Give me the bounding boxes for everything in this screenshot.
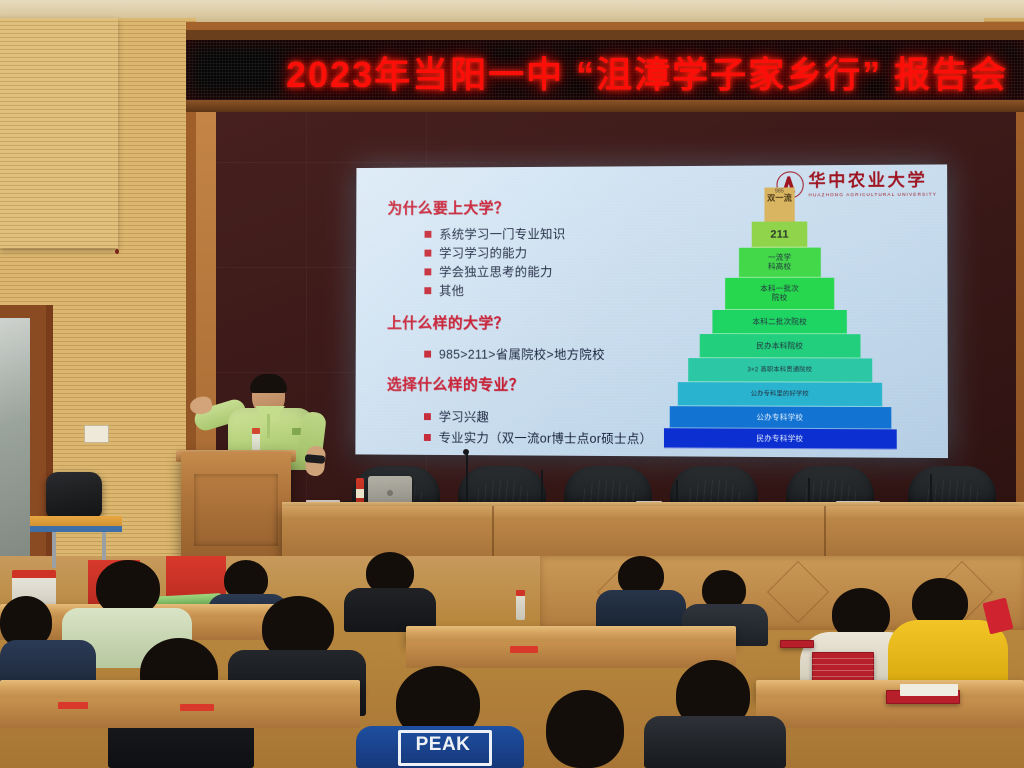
pyramid-level-4: 本科一批次 院校 (725, 278, 834, 310)
backpack (46, 472, 102, 518)
bullet-icon (424, 351, 431, 358)
slide-bullet-1-1: 系统学习一门专业知识 (425, 223, 566, 242)
bench-red-tag (510, 646, 538, 653)
wall-marker (115, 249, 119, 254)
bench-water-bottle (516, 594, 525, 620)
bench-red-tag (180, 704, 214, 711)
head-table-seam (824, 506, 826, 556)
bullet-icon (424, 413, 431, 420)
slide-bullet-1-4: 其他 (424, 280, 464, 299)
table-water-bottle-label (356, 489, 364, 498)
pyramid-level-5: 本科二批次院校 (712, 310, 847, 334)
slide-heading-2: 上什么样的大学？ (387, 312, 509, 333)
lecture-hall-photo: 2023年当阳一中 “沮漳学子家乡行” 报告会 华中农业大学 HUAZHONG … (0, 0, 1024, 768)
left-wall-upper-section (0, 18, 118, 248)
audience-torso (644, 716, 786, 768)
banner-rail-bottom (186, 100, 1024, 112)
speaker-glasses (255, 390, 282, 397)
pyramid-level-1: 985双一流 (764, 187, 794, 223)
shirt-brand-text: PEAK (404, 734, 482, 756)
speaker-wristwatch (305, 454, 326, 464)
bench-front (406, 642, 736, 668)
banner-rail-top (186, 30, 1024, 40)
slide-bullet-1-2: 学习学习的能力 (424, 242, 527, 261)
pyramid-level-2: 211 (752, 221, 808, 247)
speaker-shirt-placket (267, 414, 270, 438)
wall-switch-plate[interactable] (84, 425, 109, 443)
head-table (282, 506, 1024, 556)
notebook (900, 684, 958, 696)
microphone-head (463, 449, 469, 455)
audience-head (546, 690, 624, 768)
bullet-icon (425, 231, 432, 238)
pyramid-level-10: 民办专科学校 (664, 428, 897, 449)
bullet-icon (424, 268, 431, 275)
pyramid-level-3: 一流学 科高校 (739, 248, 820, 278)
red-booklet (780, 640, 814, 648)
pyramid-level-6: 民办本科院校 (700, 334, 860, 358)
bullet-icon (424, 434, 431, 441)
university-tier-pyramid: 985双一流211一流学 科高校本科一批次 院校本科二批次院校民办本科院校3+2… (664, 187, 897, 450)
door-glass (0, 318, 30, 583)
slide-bullet-3-2: 专业实力（双一流or博士点or硕士点） (424, 427, 652, 447)
pyramid-level-1-main: 双一流 (764, 194, 794, 203)
slide-heading-3: 选择什么样的专业？ (387, 373, 524, 394)
pyramid-level-9: 公办专科学校 (670, 406, 891, 429)
bullet-icon (424, 250, 431, 257)
bench-surface (0, 680, 360, 700)
led-banner: 2023年当阳一中 “沮漳学子家乡行” 报告会 (186, 40, 1024, 100)
slide-bullet-text: 学会独立思考的能力 (439, 265, 553, 279)
banner-text: 2023年当阳一中 “沮漳学子家乡行” 报告会 (286, 46, 1024, 98)
slide-bullet-text: 系统学习一门专业知识 (439, 227, 565, 241)
slide-bullet-1-3: 学会独立思考的能力 (424, 261, 552, 280)
pyramid-level-8: 公办专科里的好学校 (678, 382, 883, 407)
pyramid-level-7: 3+2 高职本科贯通院校 (688, 358, 872, 383)
microphone-stem (541, 470, 543, 506)
slide-heading-1: 为什么要上大学？ (387, 197, 509, 218)
slide-bullet-text: 其他 (439, 284, 464, 298)
bench-red-tag (58, 702, 88, 709)
slide-bullet-text: 学习学习的能力 (439, 246, 527, 260)
projection-screen: 华中农业大学 HUAZHONG AGRICULTURAL UNIVERSITY … (355, 164, 948, 458)
slide-bullet-text: 专业实力（双一流or博士点or硕士点） (439, 431, 653, 446)
slide-bullet-3-1: 学习兴趣 (424, 406, 489, 425)
podium-water-bottle-cap (252, 428, 260, 434)
slide-bullet-text: 学习兴趣 (439, 410, 489, 424)
bench-water-bottle-cap (516, 590, 525, 596)
bullet-icon (424, 287, 431, 294)
microphone-stem (466, 452, 468, 508)
head-table-seam (492, 506, 494, 556)
laptop-logo-icon (387, 490, 393, 496)
bench-front (0, 698, 360, 728)
podium-front-panel (194, 474, 278, 546)
slide-bullet-text: 985>211>省属院校>地方院校 (439, 348, 605, 362)
slide-bullet-2-1: 985>211>省属院校>地方院校 (424, 344, 605, 363)
